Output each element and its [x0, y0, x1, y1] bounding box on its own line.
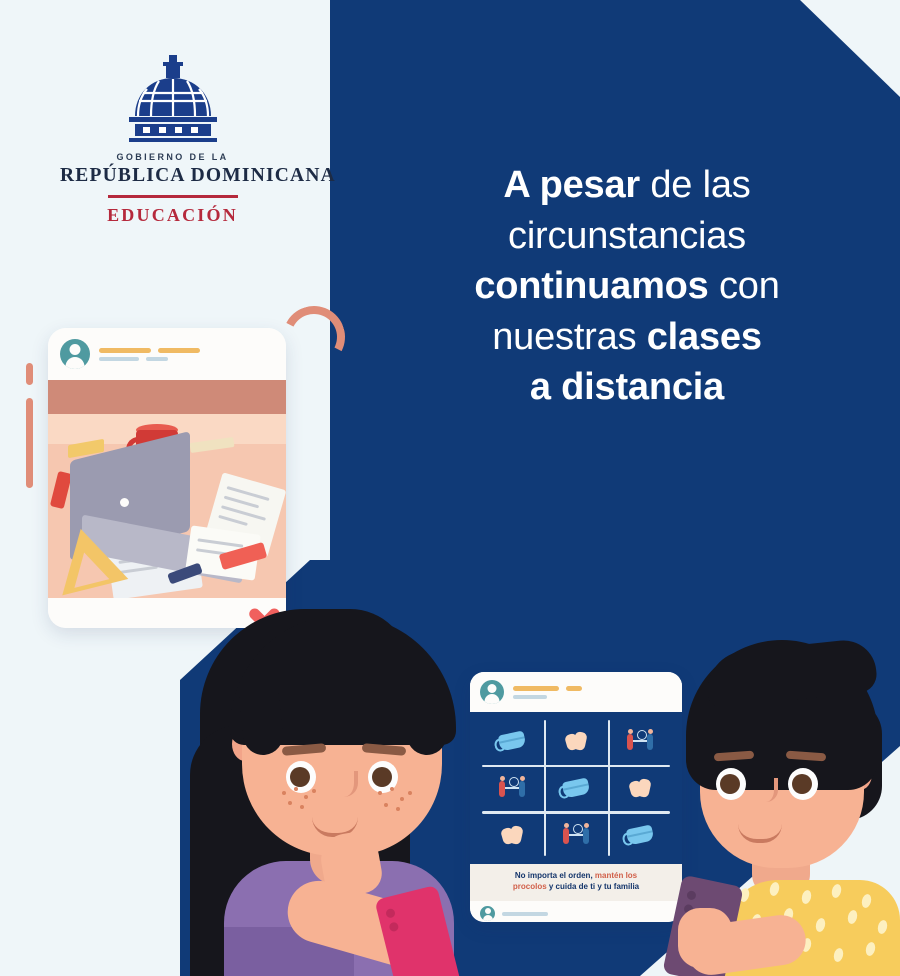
decor-dash-short [26, 363, 33, 385]
caption-part-4: y cuida de ti y tu familia [547, 882, 639, 891]
headline-bold-a-distancia: a distancia [530, 366, 724, 408]
username-bar [99, 348, 151, 353]
post-header [48, 328, 286, 380]
headline-line-4: nuestras clases [392, 312, 862, 363]
headline-line-1: A pesar de las [392, 160, 862, 211]
username-bar [158, 348, 200, 353]
headline: A pesar de las circunstancias continuamo… [392, 160, 862, 413]
headline-bold-continuamos: continuamos [474, 265, 708, 307]
mask-icon [626, 824, 655, 845]
username-bar [566, 686, 582, 691]
boy-with-phone [672, 640, 900, 976]
headline-text-nuestras: nuestras [492, 316, 647, 358]
government-logo: GOBIERNO DE LA REPÚBLICA DOMINICANA EDUC… [60, 48, 285, 226]
headline-line-2: circunstancias [392, 211, 862, 262]
logo-line-country: REPÚBLICA DOMINICANA [60, 165, 285, 187]
headline-text-con: con [709, 265, 780, 307]
post-header-lines [513, 686, 582, 699]
post-header-lines [99, 348, 200, 361]
headline-bold-clases: clases [647, 316, 762, 358]
freckles [282, 787, 412, 813]
subtitle-bar [146, 357, 168, 361]
dome-icon [60, 48, 285, 143]
social-distancing-icon [626, 730, 654, 752]
caption-part-1: No importa el orden, [515, 871, 595, 880]
user-avatar-icon [60, 339, 90, 369]
mask-icon [562, 777, 591, 798]
decor-dash-long [26, 398, 33, 488]
caption-part-2: mantén los [595, 871, 637, 880]
headline-text-de-las: de las [640, 164, 751, 206]
social-distancing-icon [562, 824, 590, 846]
poster: GOBIERNO DE LA REPÚBLICA DOMINICANA EDUC… [0, 0, 900, 976]
eye-left [716, 768, 746, 800]
hand [678, 908, 732, 968]
headline-bold-a-pesar: A pesar [503, 164, 640, 206]
eye-right [788, 768, 818, 800]
logo-divider [108, 195, 238, 198]
handwashing-icon [628, 777, 652, 799]
desk-illustration [48, 380, 286, 598]
handwashing-icon [564, 730, 588, 752]
logo-line-educacion: EDUCACIÓN [60, 205, 285, 226]
headline-line-5: a distancia [392, 362, 862, 413]
logo-line-gobierno: GOBIERNO DE LA [60, 152, 285, 162]
girl-with-phone [190, 575, 520, 976]
subtitle-bar [99, 357, 139, 361]
headline-line-3: continuamos con [392, 261, 862, 312]
